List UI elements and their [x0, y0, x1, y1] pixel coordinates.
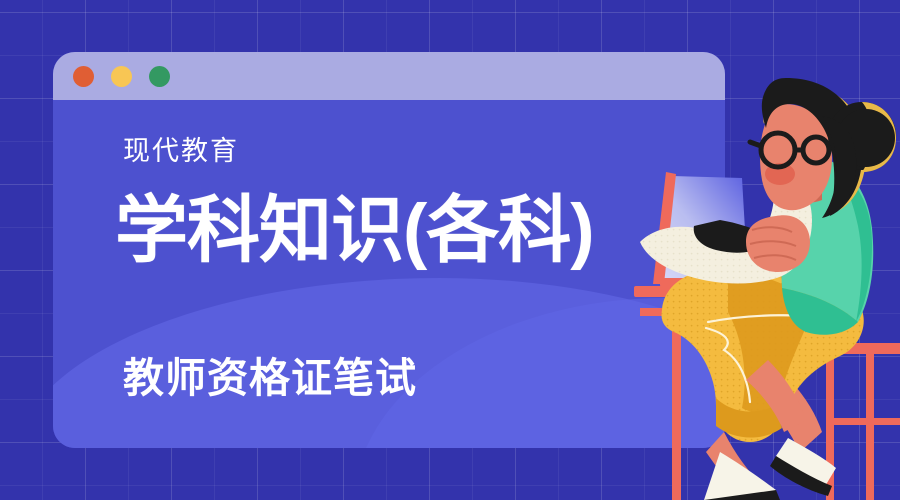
page-subtitle: 教师资格证笔试 — [123, 358, 417, 399]
poster-canvas: 现代教育 学科知识(各科) 教师资格证笔试 — [0, 0, 900, 500]
page-title: 学科知识(各科) — [115, 194, 594, 267]
woman-with-laptop-illustration — [600, 60, 900, 500]
brand-eyebrow: 现代教育 — [123, 129, 239, 168]
fist-hand-icon — [746, 215, 810, 272]
